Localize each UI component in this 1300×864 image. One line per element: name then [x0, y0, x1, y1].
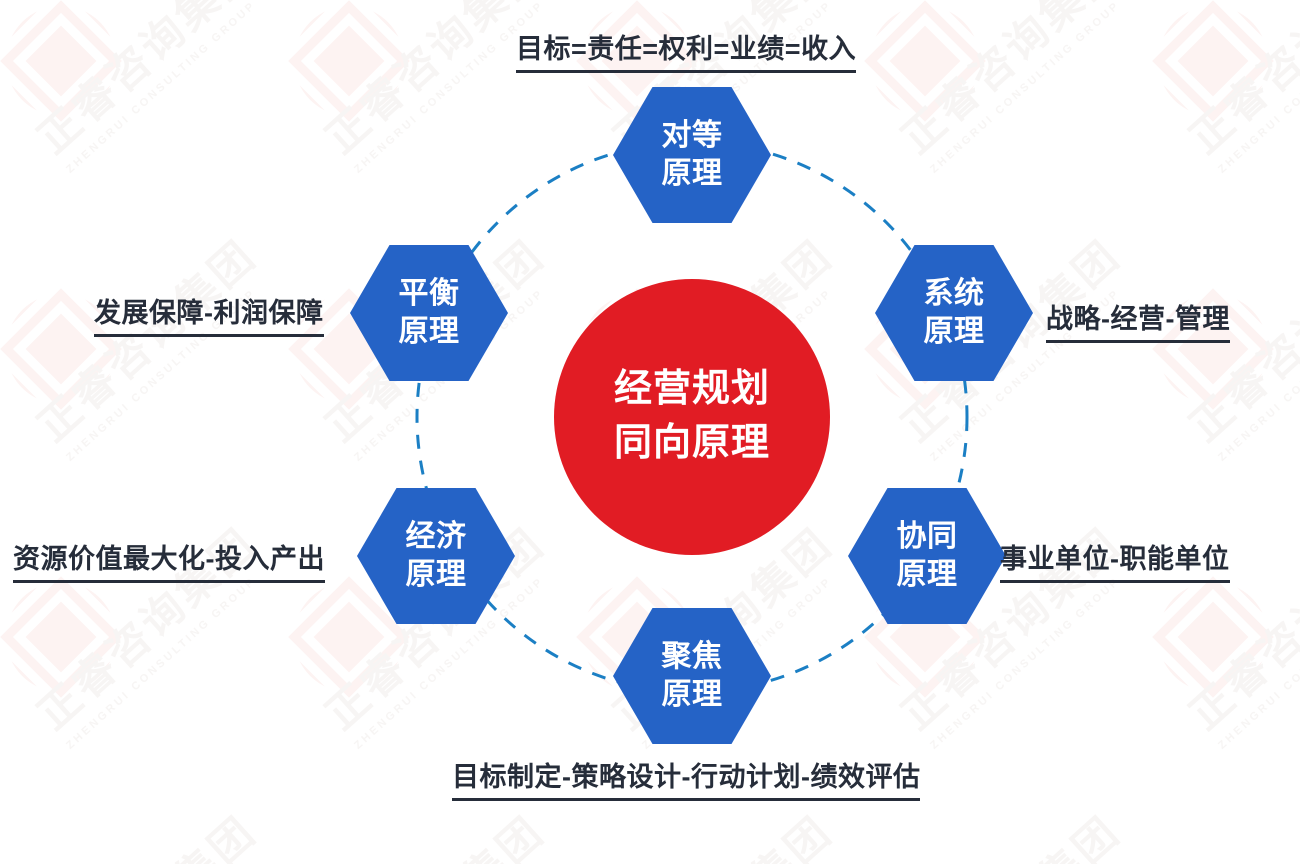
watermark-text: 正睿咨询集团ZHENGRUI CONSULTING GROUP	[886, 799, 1141, 864]
hexagon-lower-right-xietong[interactable]: 协同 原理	[848, 488, 1006, 624]
watermark-text-cn: 正睿咨询集团	[598, 799, 844, 864]
watermark-text-cn: 正睿咨询集团	[22, 799, 268, 864]
hexagon-upper-right-line2: 原理	[924, 313, 985, 351]
watermark-text: 正睿咨询集团ZHENGRUI CONSULTING GROUP	[1174, 799, 1300, 864]
label-bottom: 目标制定-策略设计-行动计划-绩效评估	[452, 755, 920, 801]
hexagon-top-line1: 对等	[662, 117, 723, 155]
watermark-text-cn: 正睿咨询集团	[310, 799, 556, 864]
label-upper-left: 发展保障-利润保障	[94, 291, 324, 337]
hexagon-upper-left-pingheng[interactable]: 平衡 原理	[350, 245, 508, 381]
watermark-text-cn: 正睿咨询集团	[22, 223, 268, 453]
label-lower-right: 事业单位-职能单位	[1000, 537, 1230, 583]
watermark-text-en: ZHENGRUI CONSULTING GROUP	[928, 0, 1141, 176]
hexagon-bottom-line1: 聚焦	[662, 638, 723, 676]
watermark-text: 正睿咨询集团ZHENGRUI CONSULTING GROUP	[1174, 223, 1300, 463]
watermark-tile: 正睿咨询集团ZHENGRUI CONSULTING GROUP	[0, 576, 288, 864]
watermark-text-en: ZHENGRUI CONSULTING GROUP	[1216, 558, 1300, 752]
watermark-text: 正睿咨询集团ZHENGRUI CONSULTING GROUP	[310, 799, 565, 864]
watermark-tile: 正睿咨询集团ZHENGRUI CONSULTING GROUP	[1152, 0, 1300, 288]
watermark-text: 正睿咨询集团ZHENGRUI CONSULTING GROUP	[22, 799, 277, 864]
watermark-text-en: ZHENGRUI CONSULTING GROUP	[928, 846, 1141, 864]
hexagon-top-duideng[interactable]: 对等 原理	[613, 87, 771, 223]
hexagon-bottom-line2: 原理	[662, 676, 723, 714]
hexagon-upper-right-line1: 系统	[924, 275, 985, 313]
label-lower-left: 资源价值最大化-投入产出	[13, 537, 325, 583]
hexagon-lower-left-jingji[interactable]: 经济 原理	[357, 488, 515, 624]
watermark-logo-icon	[6, 582, 116, 692]
watermark-text-en: ZHENGRUI CONSULTING GROUP	[352, 846, 565, 864]
watermark-text: 正睿咨询集团ZHENGRUI CONSULTING GROUP	[22, 0, 277, 176]
center-title-line1: 经营规划	[614, 363, 770, 417]
watermark-logo-icon	[870, 6, 980, 116]
watermark-text-en: ZHENGRUI CONSULTING GROUP	[1216, 846, 1300, 864]
label-upper-right: 战略-经营-管理	[1046, 297, 1230, 343]
watermark-text-en: ZHENGRUI CONSULTING GROUP	[64, 846, 277, 864]
watermark-text: 正睿咨询集团ZHENGRUI CONSULTING GROUP	[886, 0, 1141, 176]
watermark-text-cn: 正睿咨询集团	[310, 0, 556, 165]
watermark-logo-icon	[294, 6, 404, 116]
watermark-tile: 正睿咨询集团ZHENGRUI CONSULTING GROUP	[864, 0, 1152, 288]
watermark-text-cn: 正睿咨询集团	[1174, 799, 1300, 864]
hexagon-upper-left-line1: 平衡	[399, 275, 460, 313]
watermark-logo-icon	[6, 6, 116, 116]
watermark-logo-icon	[1158, 6, 1268, 116]
diagram-canvas: 正睿咨询集团ZHENGRUI CONSULTING GROUP正睿咨询集团ZHE…	[0, 0, 1300, 864]
watermark-text-en: ZHENGRUI CONSULTING GROUP	[64, 558, 277, 752]
watermark-tile: 正睿咨询集团ZHENGRUI CONSULTING GROUP	[1152, 576, 1300, 864]
watermark-text: 正睿咨询集团ZHENGRUI CONSULTING GROUP	[598, 799, 853, 864]
center-title-line2: 同向原理	[614, 417, 770, 471]
hexagon-lower-right-line2: 原理	[897, 556, 958, 594]
watermark-text-cn: 正睿咨询集团	[1174, 0, 1300, 165]
hexagon-upper-left-line2: 原理	[399, 313, 460, 351]
watermark-logo-icon	[1158, 582, 1268, 692]
hexagon-top-line2: 原理	[662, 155, 723, 193]
watermark-text: 正睿咨询集团ZHENGRUI CONSULTING GROUP	[1174, 0, 1300, 176]
hexagon-lower-left-line1: 经济	[406, 518, 467, 556]
watermark-text-cn: 正睿咨询集团	[886, 799, 1132, 864]
center-circle: 经营规划 同向原理	[554, 279, 830, 555]
label-top: 目标=责任=权利=业绩=收入	[516, 27, 856, 73]
watermark-text: 正睿咨询集团ZHENGRUI CONSULTING GROUP	[22, 223, 277, 463]
hexagon-upper-right-xitong[interactable]: 系统 原理	[875, 245, 1033, 381]
watermark-tile: 正睿咨询集团ZHENGRUI CONSULTING GROUP	[0, 0, 288, 288]
watermark-text-en: ZHENGRUI CONSULTING GROUP	[640, 846, 853, 864]
hexagon-bottom-jujiao[interactable]: 聚焦 原理	[613, 608, 771, 744]
hexagon-lower-right-line1: 协同	[897, 518, 958, 556]
watermark-text-en: ZHENGRUI CONSULTING GROUP	[1216, 0, 1300, 176]
watermark-text-cn: 正睿咨询集团	[22, 0, 268, 165]
watermark-text-cn: 正睿咨询集团	[886, 0, 1132, 165]
watermark-text-en: ZHENGRUI CONSULTING GROUP	[64, 0, 277, 176]
hexagon-lower-left-line2: 原理	[406, 556, 467, 594]
